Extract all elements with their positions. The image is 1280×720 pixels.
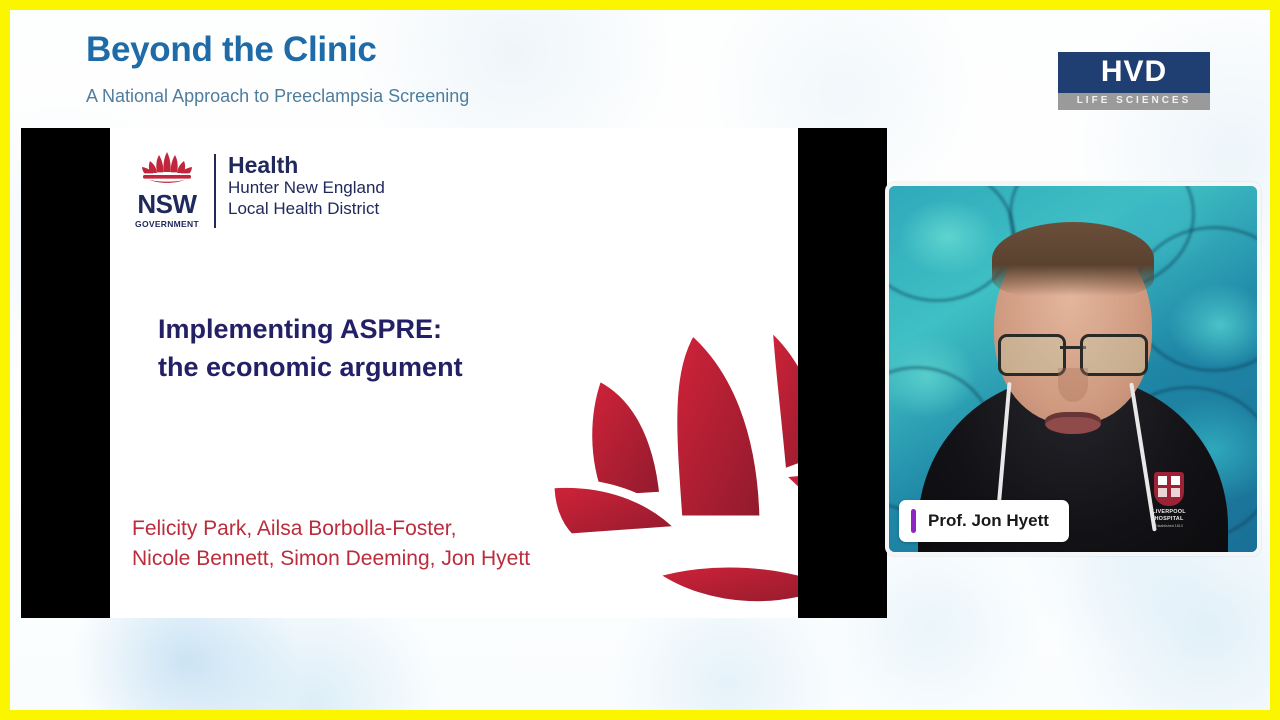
glasses-icon	[998, 334, 1148, 372]
nsw-health-wordmark: Health Hunter New England Local Health D…	[228, 150, 385, 219]
hvd-logo-bar: LIFE SCIENCES	[1058, 93, 1210, 110]
video-stream: LIVERPOOL HOSPITAL Established 1813 Prof…	[889, 186, 1257, 552]
hospital-name-line-1: LIVERPOOL	[1147, 509, 1191, 516]
page-title: Beyond the Clinic	[86, 30, 377, 70]
speaker-video-tile[interactable]: LIVERPOOL HOSPITAL Established 1813 Prof…	[885, 182, 1261, 556]
nsw-government-mark: NSW GOVERNMENT	[132, 150, 202, 229]
hvd-logo-box: HVD	[1058, 52, 1210, 93]
district-line-2: Local Health District	[228, 199, 385, 220]
nsw-logo-government: GOVERNMENT	[132, 220, 202, 229]
speaker-hair	[992, 222, 1154, 296]
hvd-life-sciences-logo: HVD LIFE SCIENCES	[1058, 52, 1210, 110]
badge-accent-bar	[911, 509, 916, 533]
hvd-logo-tagline: LIFE SCIENCES	[1058, 96, 1210, 106]
health-label: Health	[228, 153, 385, 178]
hospital-established: Established 1813	[1147, 524, 1191, 528]
speaker-nose	[1058, 368, 1088, 402]
speaker-name-badge: Prof. Jon Hyett	[899, 500, 1069, 542]
logo-divider	[214, 154, 216, 228]
glasses-left-lens	[998, 334, 1066, 376]
video-frame-yellow-border: Beyond the Clinic A National Approach to…	[0, 0, 1280, 720]
nsw-logo-letters: NSW	[132, 191, 202, 217]
district-line-1: Hunter New England	[228, 178, 385, 199]
header-bar: Beyond the Clinic A National Approach to…	[10, 10, 1270, 122]
waratah-graphic	[540, 324, 798, 618]
hvd-logo-word: HVD	[1058, 57, 1210, 87]
glasses-right-lens	[1080, 334, 1148, 376]
slide-title: Implementing ASPRE: the economic argumen…	[158, 310, 463, 387]
speaker-mouth	[1045, 412, 1101, 434]
speaker-name: Prof. Jon Hyett	[928, 511, 1049, 531]
slide-authors: Felicity Park, Ailsa Borbolla-Foster, Ni…	[132, 514, 530, 575]
liverpool-hospital-logo: LIVERPOOL HOSPITAL Established 1813	[1147, 472, 1191, 528]
waratah-icon	[137, 150, 197, 190]
presentation-slide-viewport[interactable]: NSW GOVERNMENT Health Hunter New England…	[21, 128, 887, 618]
webinar-stage: Beyond the Clinic A National Approach to…	[10, 10, 1270, 710]
page-subtitle: A National Approach to Preeclampsia Scre…	[86, 86, 469, 107]
nsw-health-logo: NSW GOVERNMENT Health Hunter New England…	[132, 150, 385, 229]
hospital-shield-icon	[1154, 472, 1184, 506]
hospital-name-line-2: HOSPITAL	[1147, 516, 1191, 523]
presentation-slide: NSW GOVERNMENT Health Hunter New England…	[110, 128, 798, 618]
